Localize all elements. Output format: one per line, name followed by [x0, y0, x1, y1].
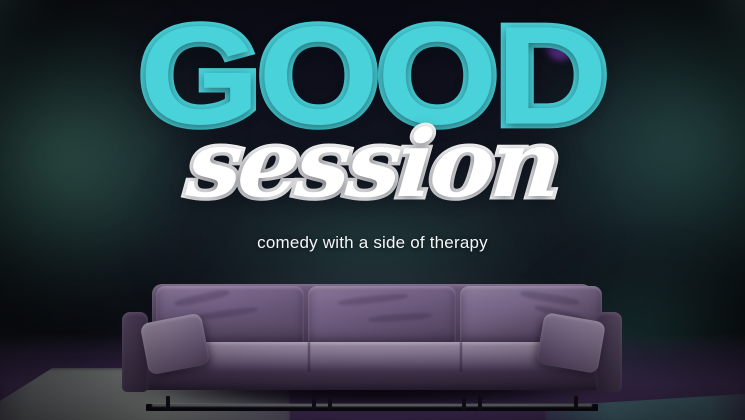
tagline: comedy with a side of therapy	[0, 233, 745, 253]
poster-canvas: GOOD session comedy with a side of thera…	[0, 0, 745, 420]
title-secondary: session	[0, 118, 745, 210]
title-block: GOOD session comedy with a side of thera…	[0, 0, 745, 270]
